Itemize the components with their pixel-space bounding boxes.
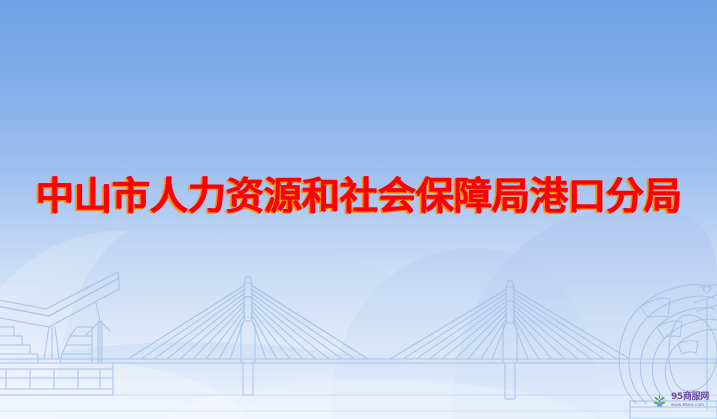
watermark-text: 95商服网 www.95sw.com <box>671 393 709 408</box>
watermark: 95商服网 www.95sw.com <box>651 392 709 409</box>
watermark-url: www.95sw.com <box>671 403 709 408</box>
watermark-logo-icon <box>651 392 668 409</box>
banner-title-container: 中山市人力资源和社会保障局港口分局 <box>0 168 717 224</box>
stadium-structure <box>0 272 119 395</box>
page-title: 中山市人力资源和社会保障局港口分局 <box>35 177 681 215</box>
cable-stayed-bridge-right <box>390 281 630 399</box>
watermark-name: 95商服网 <box>671 393 709 402</box>
government-banner: 中山市人力资源和社会保障局港口分局 95商服网 www.95sw.com <box>0 0 717 419</box>
cityscape-line-art <box>0 259 717 419</box>
